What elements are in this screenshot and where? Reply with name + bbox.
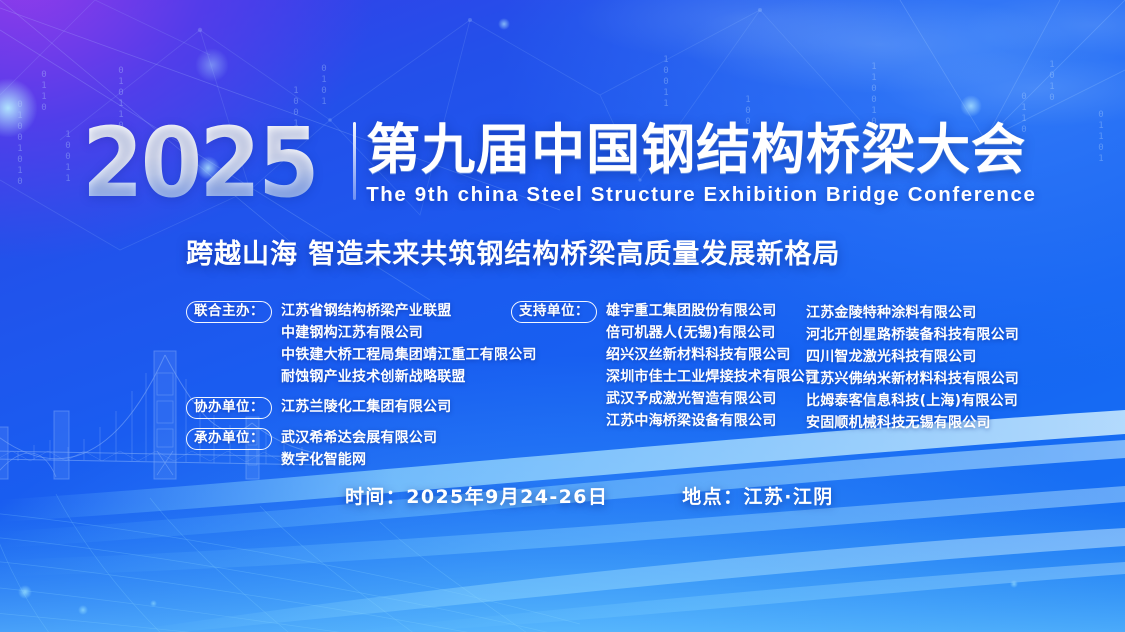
- organizers-column-middle: 支持单位： 雄宇重工集团股份有限公司 倍可机器人(无锡)有限公司 绍兴汉丝新材料…: [511, 300, 819, 440]
- label-joint-host: 联合主办：: [186, 301, 272, 323]
- list-item: 武汉希希达会展有限公司: [281, 427, 437, 449]
- glow-dot-decor: [498, 18, 510, 30]
- list-item: 江苏兴佛纳米新材料科技有限公司: [806, 368, 1019, 390]
- list-item: 四川智龙激光科技有限公司: [806, 346, 1019, 368]
- list-item: 中铁建大桥工程局集团靖江重工有限公司: [281, 344, 537, 366]
- organizer-block-supporters: 支持单位： 雄宇重工集团股份有限公司 倍可机器人(无锡)有限公司 绍兴汉丝新材料…: [511, 300, 819, 432]
- title-block: 2025 第九届中国钢结构桥梁大会 The 9th china Steel St…: [82, 120, 1037, 208]
- list-item: 中建钢构江苏有限公司: [281, 322, 537, 344]
- organizers-column-right: 江苏金陵特种涂料有限公司 河北开创星路桥装备科技有限公司 四川智龙激光科技有限公…: [806, 300, 1019, 434]
- year-2025: 2025: [82, 120, 317, 206]
- list-item: 安固顺机械科技无锡有限公司: [806, 412, 1019, 434]
- event-location: 地点：江苏·江阴: [682, 484, 833, 510]
- list-item: 比姆泰客信息科技(上海)有限公司: [806, 390, 1019, 412]
- binary-code-decor: 10011: [62, 130, 73, 185]
- list-item: 武汉予成激光智造有限公司: [606, 388, 819, 410]
- conference-banner: 01001010 0110 10011 010110 1001 0101 110…: [0, 0, 1125, 632]
- organizer-block-undertaker: 承办单位： 武汉希希达会展有限公司 数字化智能网: [186, 427, 537, 471]
- organizers-column-left: 联合主办： 江苏省钢结构桥梁产业联盟 中建钢构江苏有限公司 中铁建大桥工程局集团…: [186, 300, 537, 479]
- label-undertaker: 承办单位：: [186, 428, 272, 450]
- label-co-organizer: 协办单位：: [186, 397, 272, 419]
- binary-code-decor: 1010: [1046, 60, 1057, 104]
- organizer-block-co-organizer: 协办单位： 江苏兰陵化工集团有限公司: [186, 396, 537, 419]
- event-meta: 时间：2025年9月24-26日 地点：江苏·江阴: [345, 484, 834, 510]
- list-item: 耐蚀钢产业技术创新战略联盟: [281, 366, 537, 388]
- event-date: 时间：2025年9月24-26日: [345, 484, 608, 510]
- binary-code-decor: 0101: [318, 64, 329, 108]
- list-item: 江苏金陵特种涂料有限公司: [806, 302, 1019, 324]
- slogan: 跨越山海 智造未来共筑钢结构桥梁高质量发展新格局: [186, 238, 840, 272]
- list-item: 雄宇重工集团股份有限公司: [606, 300, 819, 322]
- perspective-grid-decor: [0, 492, 580, 632]
- binary-code-decor: 0110: [38, 70, 49, 114]
- list-item: 绍兴汉丝新材料科技有限公司: [606, 344, 819, 366]
- list-item: 深圳市佳士工业焊接技术有限公司: [606, 366, 819, 388]
- title-divider: [353, 122, 356, 200]
- label-supporters: 支持单位：: [511, 301, 597, 323]
- glow-dot-decor: [195, 48, 229, 82]
- list-item: 数字化智能网: [281, 449, 437, 471]
- organizer-block-joint-host: 联合主办： 江苏省钢结构桥梁产业联盟 中建钢构江苏有限公司 中铁建大桥工程局集团…: [186, 300, 537, 388]
- list-item: 倍可机器人(无锡)有限公司: [606, 322, 819, 344]
- list-item: 江苏中海桥梁设备有限公司: [606, 410, 819, 432]
- binary-code-decor: 01001010: [14, 100, 25, 188]
- list-item: 江苏兰陵化工集团有限公司: [281, 396, 451, 418]
- binary-code-decor: 10011: [660, 55, 671, 110]
- binary-code-decor: 01101: [1095, 110, 1106, 165]
- list-item: 河北开创星路桥装备科技有限公司: [806, 324, 1019, 346]
- page-title: 第九届中国钢结构桥梁大会: [366, 120, 1036, 180]
- glow-dot-decor: [960, 95, 982, 117]
- list-item: 江苏省钢结构桥梁产业联盟: [281, 300, 537, 322]
- page-subtitle-en: The 9th china Steel Structure Exhibition…: [366, 182, 1036, 208]
